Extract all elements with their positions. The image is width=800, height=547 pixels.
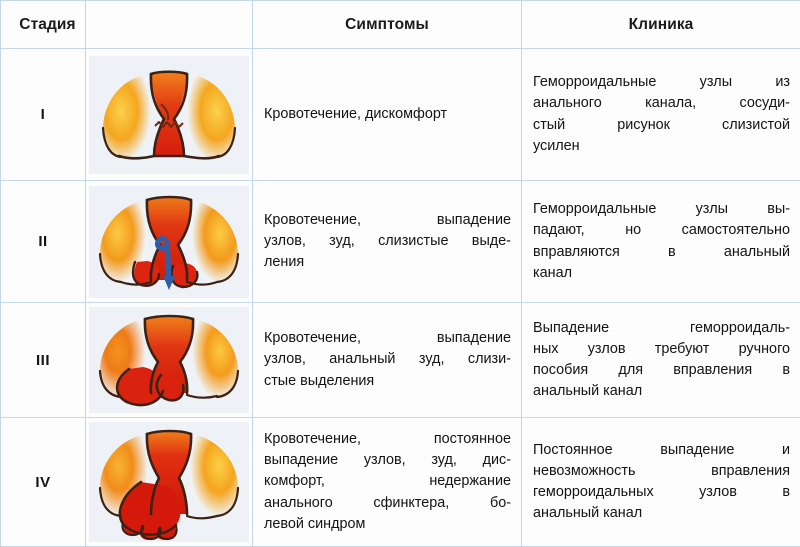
hemorrhoid-stages-table: Стадия Симптомы Клиника I [0, 0, 800, 547]
illustration-cell-stage-3 [86, 303, 253, 418]
symptoms-cell-stage-1: Кровотечение, дискомфорт [253, 49, 522, 181]
column-header-illustration [86, 1, 253, 49]
symptoms-line: комфорт,недержание [264, 471, 511, 492]
clinic-line: Геморроидальныеузлывы- [533, 199, 790, 220]
clinic-line: канал [533, 263, 790, 284]
hemorrhoid-stage-4-illustration [89, 422, 249, 542]
hemorrhoid-stage-1-illustration [89, 56, 249, 174]
clinic-line: геморроидальныхузловв [533, 482, 790, 503]
symptoms-line: Кровотечение,постоянное [264, 429, 511, 450]
clinic-line: Выпадениегеморроидаль- [533, 318, 790, 339]
stage-numeral-4: IV [1, 418, 86, 547]
column-header-symptoms: Симптомы [253, 1, 522, 49]
hemorrhoid-stages-table-container: Стадия Симптомы Клиника I [0, 0, 800, 546]
clinic-line: падают,носамостоятельно [533, 220, 790, 241]
illustration-cell-stage-1 [86, 49, 253, 181]
column-header-stage: Стадия [1, 1, 86, 49]
symptoms-line: анальногосфинктера,бо- [264, 493, 511, 514]
symptoms-line: Кровотечение,выпадение [264, 210, 511, 231]
illustration-cell-stage-2 [86, 181, 253, 303]
clinic-line: невозможностьвправления [533, 461, 790, 482]
symptoms-line: левой синдром [264, 514, 511, 535]
clinic-line: анальный канал [533, 503, 790, 524]
symptoms-cell-stage-4: Кровотечение,постоянное выпадениеузлов,з… [253, 418, 522, 547]
clinic-line: ныхузловтребуютручного [533, 339, 790, 360]
illustration-cell-stage-4 [86, 418, 253, 547]
symptoms-cell-stage-3: Кровотечение,выпадение узлов,анальныйзуд… [253, 303, 522, 418]
clinic-line: Постоянноевыпадениеи [533, 440, 790, 461]
column-header-clinic: Клиника [522, 1, 800, 49]
table-row: IV [1, 418, 800, 547]
clinic-cell-stage-3: Выпадениегеморроидаль- ныхузловтребуютру… [522, 303, 800, 418]
symptoms-line: узлов,анальныйзуд,слизи- [264, 349, 511, 370]
hemorrhoid-stage-3-illustration [89, 307, 249, 413]
table-row: II [1, 181, 800, 303]
clinic-cell-stage-1: Геморроидальныеузлыиз анальногоканала,со… [522, 49, 800, 181]
stage-numeral-1: I [1, 49, 86, 181]
symptoms-line: стые выделения [264, 371, 511, 392]
clinic-line: анальногоканала,сосуди- [533, 93, 790, 114]
symptoms-line: Кровотечение, дискомфорт [264, 104, 511, 125]
clinic-line: вправляютсяванальный [533, 242, 790, 263]
clinic-line: стыйрисунокслизистой [533, 115, 790, 136]
hemorrhoid-stage-2-illustration [89, 186, 249, 298]
table-header-row: Стадия Симптомы Клиника [1, 1, 800, 49]
clinic-cell-stage-2: Геморроидальныеузлывы- падают,носамостоя… [522, 181, 800, 303]
stage-numeral-3: III [1, 303, 86, 418]
symptoms-line: выпадениеузлов,зуд,дис- [264, 450, 511, 471]
stage-numeral-2: II [1, 181, 86, 303]
symptoms-line: Кровотечение,выпадение [264, 328, 511, 349]
clinic-line: пособиядлявправленияв [533, 360, 790, 381]
clinic-line: Геморроидальныеузлыиз [533, 72, 790, 93]
symptoms-line: узлов,зуд,слизистыевыде- [264, 231, 511, 252]
table-row: I [1, 49, 800, 181]
clinic-line: усилен [533, 136, 790, 157]
symptoms-line: ления [264, 252, 511, 273]
table-row: III [1, 303, 800, 418]
symptoms-cell-stage-2: Кровотечение,выпадение узлов,зуд,слизист… [253, 181, 522, 303]
clinic-cell-stage-4: Постоянноевыпадениеи невозможностьвправл… [522, 418, 800, 547]
clinic-line: анальный канал [533, 381, 790, 402]
